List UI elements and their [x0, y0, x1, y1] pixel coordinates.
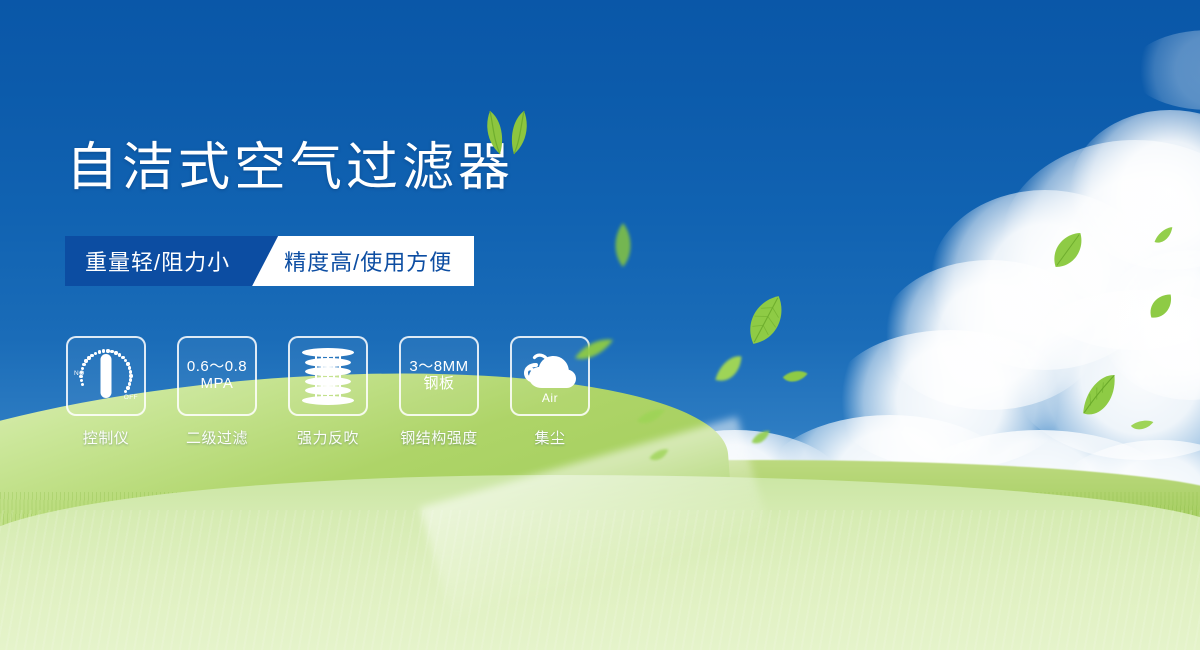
dial-tick [129, 378, 132, 381]
floating-leaf [574, 338, 614, 362]
feature-list: NO OFF 控制仪 0.6～0.8 MPA 二级过滤 强 [66, 336, 590, 448]
subtitle-bar: 重量轻/阻力小 精度高/使用方便 [65, 236, 474, 286]
floating-leaf [781, 366, 809, 387]
dial-tick [124, 390, 127, 393]
steel-material: 钢板 [409, 376, 468, 393]
dial-tick [110, 350, 113, 353]
pressure-value: 0.6～0.8 [187, 359, 247, 376]
dial-gauge-icon: NO OFF [75, 345, 137, 407]
feature-label: 二级过滤 [186, 427, 248, 448]
dial-tick [80, 379, 83, 382]
filter-coil-icon [302, 348, 354, 404]
dial-tick [126, 386, 129, 389]
sprout-leaves-icon [474, 108, 536, 156]
dial-tick [94, 352, 97, 355]
banner-stage: 自洁式空气过滤器 重量轻/阻力小 精度高/使用方便 NO OFF 控制仪 [0, 0, 1200, 650]
coil-ring [305, 386, 351, 395]
dial-tick [129, 374, 132, 377]
coil-ring [302, 396, 354, 405]
dial-tick [106, 349, 109, 352]
steel-thickness: 3～8MM [409, 359, 468, 376]
dial-tick [81, 383, 84, 386]
air-cloud-icon: Air [520, 348, 580, 404]
feature-label: 集尘 [534, 427, 565, 448]
feature-item-controller[interactable]: NO OFF 控制仪 [66, 336, 146, 448]
subtitle-right: 精度高/使用方便 [278, 236, 474, 286]
coil-ring [305, 377, 351, 386]
dial-tick [79, 375, 82, 378]
feature-label: 强力反吹 [297, 427, 359, 448]
floating-leaf [636, 408, 666, 426]
subtitle-left: 重量轻/阻力小 [65, 236, 252, 286]
pressure-text-icon: 0.6～0.8 MPA [187, 359, 247, 393]
coil-ring [302, 348, 354, 357]
feature-icon-box: 3～8MM 钢板 [399, 336, 479, 416]
feature-item-two-stage-filter[interactable]: 0.6～0.8 MPA 二级过滤 [177, 336, 257, 448]
feature-icon-box: 0.6～0.8 MPA [177, 336, 257, 416]
dial-tick [98, 350, 101, 353]
pressure-unit: MPA [187, 376, 247, 393]
dial-pointer [101, 354, 112, 398]
floating-leaf [1129, 417, 1154, 433]
dial-tick [84, 359, 87, 362]
dial-tick [129, 370, 132, 373]
feature-icon-box [288, 336, 368, 416]
dial-off-label: OFF [124, 394, 138, 401]
feature-item-steel-strength[interactable]: 3～8MM 钢板 钢结构强度 [399, 336, 479, 448]
coil-ring [305, 367, 351, 376]
cloud-blob [1130, 30, 1200, 110]
dial-tick [128, 366, 131, 369]
feature-label: 控制仪 [83, 427, 130, 448]
air-label: Air [520, 391, 580, 405]
cloud-shape [520, 348, 580, 392]
coil-ring [305, 358, 351, 367]
feature-icon-box: NO OFF [66, 336, 146, 416]
dial-tick [80, 371, 83, 374]
floating-leaf [610, 222, 636, 268]
feature-item-back-blow[interactable]: 强力反吹 [288, 336, 368, 448]
subtitle-wedge [252, 236, 278, 286]
dial-tick [81, 367, 84, 370]
steel-plate-text-icon: 3～8MM 钢板 [409, 359, 468, 393]
dial-tick [82, 363, 85, 366]
dial-tick [102, 349, 105, 352]
feature-label: 钢结构强度 [400, 427, 478, 448]
page-title: 自洁式空气过滤器 [66, 142, 514, 194]
